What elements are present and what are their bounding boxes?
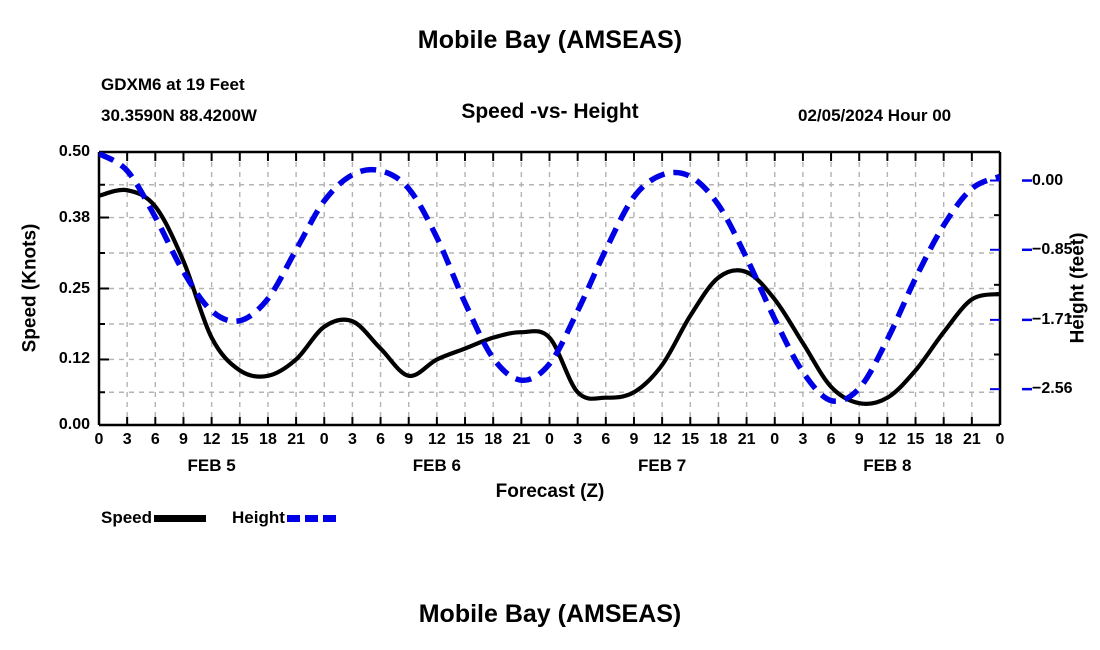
chart-page: Mobile Bay (AMSEAS) GDXM6 at 19 Feet 30.… xyxy=(0,0,1100,650)
x-tick-label: 21 xyxy=(512,431,530,449)
y-tick-label-left: 0.38 xyxy=(59,209,90,227)
x-tick-label: 0 xyxy=(770,431,779,449)
legend-swatch-height-icon xyxy=(287,515,339,522)
x-tick-label: 21 xyxy=(287,431,305,449)
x-tick-label: 6 xyxy=(376,431,385,449)
legend-label-height: Height xyxy=(232,508,285,528)
x-tick-label: 6 xyxy=(827,431,836,449)
x-tick-label: 3 xyxy=(798,431,807,449)
x-axis-day-label: FEB 5 xyxy=(188,456,236,476)
x-tick-label: 0 xyxy=(320,431,329,449)
x-tick-label: 15 xyxy=(907,431,925,449)
x-tick-label: 6 xyxy=(151,431,160,449)
x-tick-label: 3 xyxy=(573,431,582,449)
legend-item-height: Height xyxy=(232,508,339,528)
x-tick-label: 12 xyxy=(878,431,896,449)
x-tick-label: 15 xyxy=(456,431,474,449)
x-tick-label: 9 xyxy=(630,431,639,449)
y-tick-label-right: −1.71 xyxy=(1032,311,1072,329)
x-tick-label: 21 xyxy=(963,431,981,449)
x-tick-label: 15 xyxy=(681,431,699,449)
y-tick-label-left: 0.25 xyxy=(59,280,90,298)
x-axis-day-label: FEB 8 xyxy=(863,456,911,476)
x-tick-label: 0 xyxy=(545,431,554,449)
y-tick-label-left: 0.12 xyxy=(59,350,90,368)
x-tick-label: 0 xyxy=(996,431,1005,449)
x-tick-label: 18 xyxy=(484,431,502,449)
y-tick-label-left: 0.00 xyxy=(59,416,90,434)
legend-label-speed: Speed xyxy=(101,508,152,528)
x-tick-label: 9 xyxy=(404,431,413,449)
x-tick-label: 21 xyxy=(738,431,756,449)
x-axis-day-label: FEB 7 xyxy=(638,456,686,476)
x-tick-label: 15 xyxy=(231,431,249,449)
x-tick-label: 0 xyxy=(95,431,104,449)
x-tick-label: 6 xyxy=(601,431,610,449)
chart-plot-area xyxy=(0,0,1100,650)
x-tick-label: 12 xyxy=(428,431,446,449)
x-tick-label: 3 xyxy=(123,431,132,449)
y-tick-label-right: −2.56 xyxy=(1032,380,1072,398)
chart-legend: Speed Height xyxy=(101,508,339,528)
legend-item-speed: Speed xyxy=(101,508,232,528)
x-tick-label: 18 xyxy=(259,431,277,449)
x-tick-label: 18 xyxy=(710,431,728,449)
x-tick-label: 12 xyxy=(653,431,671,449)
x-tick-label: 3 xyxy=(348,431,357,449)
x-tick-label: 9 xyxy=(179,431,188,449)
x-axis-day-label: FEB 6 xyxy=(413,456,461,476)
x-tick-label: 12 xyxy=(203,431,221,449)
y-tick-label-right: −0.85 xyxy=(1032,241,1072,259)
legend-swatch-speed-icon xyxy=(154,515,206,522)
x-tick-label: 9 xyxy=(855,431,864,449)
footer-title: Mobile Bay (AMSEAS) xyxy=(0,602,1100,627)
y-tick-label-right: 0.00 xyxy=(1032,172,1063,190)
x-tick-label: 18 xyxy=(935,431,953,449)
y-tick-label-left: 0.50 xyxy=(59,143,90,161)
